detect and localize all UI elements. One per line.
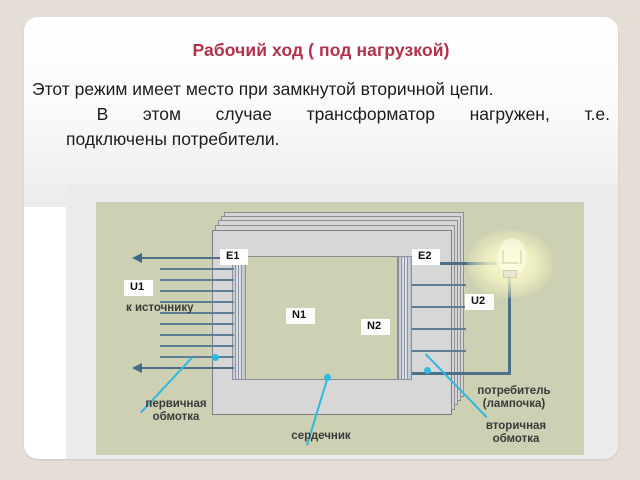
caption-core: сердечник (261, 430, 381, 444)
caption-secondary-winding-line2: обмотка (458, 433, 574, 447)
primary-arrow-top-icon (132, 253, 142, 263)
page-title: Рабочий ход ( под нагрузкой) (24, 40, 618, 61)
diagram-frame: E1 E2 U1 U2 N1 N2 к источнику первичная … (66, 183, 618, 459)
body-paragraph-2: В этом случае трансформатор нагружен, т.… (32, 102, 610, 152)
slide-card: Рабочий ход ( под нагрузкой) Этот режим … (24, 17, 618, 459)
primary-turn-9 (160, 345, 234, 347)
caption-load-line1: потребитель (454, 385, 574, 399)
lamp-filament-icon (502, 250, 522, 264)
body-word-1: этом (109, 102, 181, 127)
body-paragraph-2-line: В этом случае трансформатор нагружен, т.… (32, 102, 610, 127)
primary-arrow-bottom-icon (132, 363, 142, 373)
caption-load-line2: (лампочка) (454, 398, 574, 412)
secondary-coil-hatch-3 (407, 256, 408, 380)
primary-coil-hatch-1 (235, 256, 236, 380)
primary-lead-bottom (142, 367, 234, 369)
leader-dot-core (324, 374, 331, 381)
caption-primary-winding-line1: первичная (118, 398, 234, 412)
tag-n1: N1 (286, 308, 315, 324)
tag-n2: N2 (361, 319, 390, 335)
secondary-coil-hatch-1 (401, 256, 402, 380)
leader-dot-secondary-winding (424, 367, 431, 374)
primary-turn-4 (160, 290, 234, 292)
body-word-3: трансформатор (273, 102, 435, 127)
primary-turn-2 (160, 268, 234, 270)
body-paragraph-1: Этот режим имеет место при замкнутой вто… (32, 77, 610, 102)
lamp-base-icon (503, 270, 517, 278)
body-word-4: нагружен, (436, 102, 550, 127)
caption-primary-winding-line2: обмотка (118, 411, 234, 425)
tag-e2: E2 (412, 249, 440, 265)
tag-u2: U2 (465, 294, 494, 310)
leader-dot-primary-winding (212, 354, 219, 361)
tag-e1: E1 (220, 249, 248, 265)
secondary-turn-2 (412, 284, 466, 286)
caption-source: к источнику (126, 302, 193, 316)
primary-turn-10 (160, 356, 234, 358)
secondary-coil-hatch-2 (404, 256, 405, 380)
primary-turn-3 (160, 279, 234, 281)
body-word-2: случае (182, 102, 272, 127)
slide-body-text: Этот режим имеет место при замкнутой вто… (32, 77, 610, 152)
primary-turn-7 (160, 323, 234, 325)
primary-turn-8 (160, 334, 234, 336)
secondary-turn-4 (412, 328, 466, 330)
core-window (240, 256, 398, 380)
tag-u1: U1 (124, 280, 153, 296)
primary-coil-hatch-3 (241, 256, 242, 380)
secondary-turn-5 (412, 350, 466, 352)
secondary-turn-3 (412, 306, 466, 308)
body-word-5: т.е. (550, 102, 610, 127)
transformer-diagram: E1 E2 U1 U2 N1 N2 к источнику первичная … (96, 202, 584, 455)
body-word-0: В (63, 102, 109, 127)
body-paragraph-3: подключены потребители. (32, 127, 610, 152)
caption-secondary-winding-line1: вторичная (458, 420, 574, 434)
primary-coil-hatch-2 (238, 256, 239, 380)
